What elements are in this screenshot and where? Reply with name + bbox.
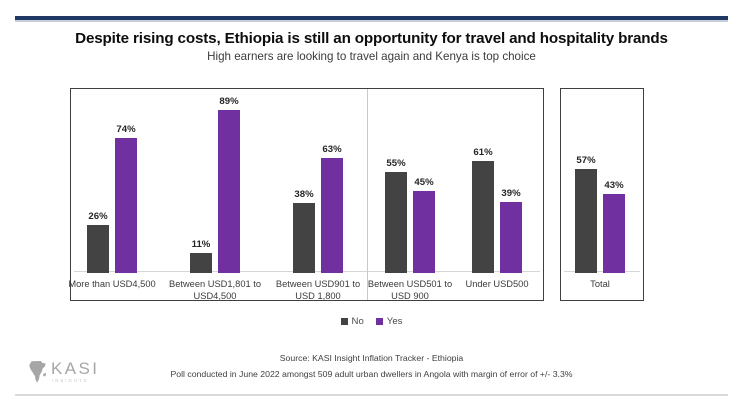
- page-subtitle: High earners are looking to travel again…: [0, 50, 743, 63]
- kasi-logo: KASI INSIGHTS: [27, 358, 123, 388]
- bar-group: 55%45%Between USD501 toUSD 900: [385, 90, 435, 273]
- legend-swatch-yes-icon: [376, 318, 383, 325]
- logo-tagline: INSIGHTS: [52, 378, 89, 383]
- bar-value-label: 26%: [88, 211, 107, 222]
- bar-value-label: 38%: [294, 189, 313, 200]
- category-label: Total: [590, 279, 610, 291]
- bar-group: 57%43%Total: [575, 90, 625, 273]
- bar-value-label: 45%: [414, 177, 433, 188]
- bar-no[interactable]: 55%: [385, 172, 407, 273]
- bar-value-label: 39%: [501, 188, 520, 199]
- bar-value-label: 89%: [219, 96, 238, 107]
- page-title: Despite rising costs, Ethiopia is still …: [0, 30, 743, 47]
- legend-item-yes[interactable]: Yes: [376, 316, 403, 327]
- africa-map-icon: [27, 360, 49, 384]
- bar-value-label: 11%: [192, 239, 211, 250]
- legend-swatch-no-icon: [341, 318, 348, 325]
- bar-value-label: 74%: [116, 124, 135, 135]
- logo-wordmark: KASI: [51, 360, 99, 378]
- legend-item-no[interactable]: No: [341, 316, 364, 327]
- bar-yes[interactable]: 39%: [500, 202, 522, 273]
- bar-yes[interactable]: 74%: [115, 138, 137, 273]
- top-accent-rule-shadow: [15, 20, 728, 22]
- bar-value-label: 43%: [604, 180, 623, 191]
- bar-group: 38%63%Between USD901 toUSD 1,800: [293, 90, 343, 273]
- bar-group: 61%39%Under USD500: [472, 90, 522, 273]
- legend-label-no: No: [352, 316, 364, 327]
- category-label: Between USD901 toUSD 1,800: [276, 279, 360, 302]
- bar-value-label: 61%: [473, 147, 492, 158]
- bar-no[interactable]: 57%: [575, 169, 597, 273]
- bar-value-label: 57%: [576, 155, 595, 166]
- bar-no[interactable]: 26%: [87, 225, 109, 273]
- panel-divider: [367, 89, 368, 300]
- category-label: Under USD500: [465, 279, 528, 291]
- bar-value-label: 55%: [386, 158, 405, 169]
- category-label: Between USD1,801 toUSD4,500: [169, 279, 261, 302]
- bar-yes[interactable]: 43%: [603, 194, 625, 273]
- bar-group: 26%74%More than USD4,500: [87, 90, 137, 273]
- bar-group: 11%89%Between USD1,801 toUSD4,500: [190, 90, 240, 273]
- bar-no[interactable]: 61%: [472, 161, 494, 273]
- bar-yes[interactable]: 45%: [413, 191, 435, 273]
- bar-no[interactable]: 38%: [293, 203, 315, 273]
- bar-value-label: 63%: [322, 144, 341, 155]
- category-label: Between USD501 toUSD 900: [368, 279, 452, 302]
- bottom-rule: [15, 394, 728, 396]
- bar-yes[interactable]: 89%: [218, 110, 240, 273]
- category-label: More than USD4,500: [68, 279, 155, 291]
- bar-no[interactable]: 11%: [190, 253, 212, 273]
- bar-yes[interactable]: 63%: [321, 158, 343, 273]
- chart-legend: No Yes: [0, 316, 743, 327]
- legend-label-yes: Yes: [387, 316, 403, 327]
